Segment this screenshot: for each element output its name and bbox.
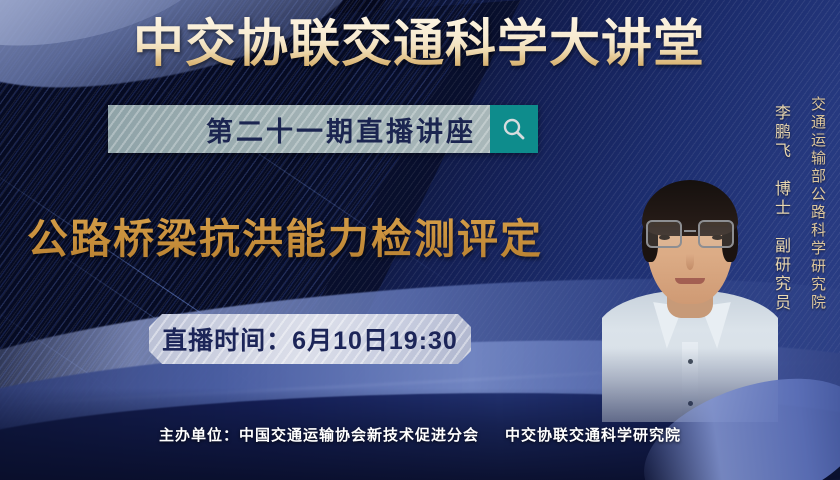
- organizer-footer: 主办单位：中国交通运输协会新技术促进分会中交协联交通科学研究院: [0, 424, 840, 445]
- portrait-figure: [602, 122, 778, 422]
- speaker-organization: 交通运输部公路科学研究院: [807, 96, 828, 312]
- broadcast-time-text: 直播时间：6月10日19:30: [162, 321, 458, 357]
- broadcast-time-badge: 直播时间：6月10日19:30: [149, 314, 471, 364]
- portrait-glasses: [644, 220, 736, 250]
- organizer-label: 主办单位：中国交通运输协会新技术促进分会: [159, 427, 479, 444]
- glasses-lens-left: [646, 220, 682, 248]
- glasses-lens-right: [698, 220, 734, 248]
- speaker-portrait: [602, 122, 778, 422]
- page-title: 中交协联交通科学大讲堂: [133, 16, 705, 71]
- lecture-headline: 公路桥梁抗洪能力检测评定: [27, 205, 543, 265]
- live-lecture-poster: 交通运输部公路科学研究院 李鹏飞 博士 副研究员: [0, 0, 840, 480]
- episode-banner: 第二十一期直播讲座: [108, 105, 538, 153]
- portrait-nose: [686, 254, 694, 270]
- episode-banner-body: 第二十一期直播讲座: [108, 105, 490, 153]
- search-icon[interactable]: [490, 105, 538, 153]
- co-organizer-label: 中交协联交通科学研究院: [505, 427, 681, 444]
- glasses-bridge: [684, 230, 696, 232]
- portrait-mouth: [675, 278, 705, 284]
- episode-label: 第二十一期直播讲座: [206, 110, 476, 149]
